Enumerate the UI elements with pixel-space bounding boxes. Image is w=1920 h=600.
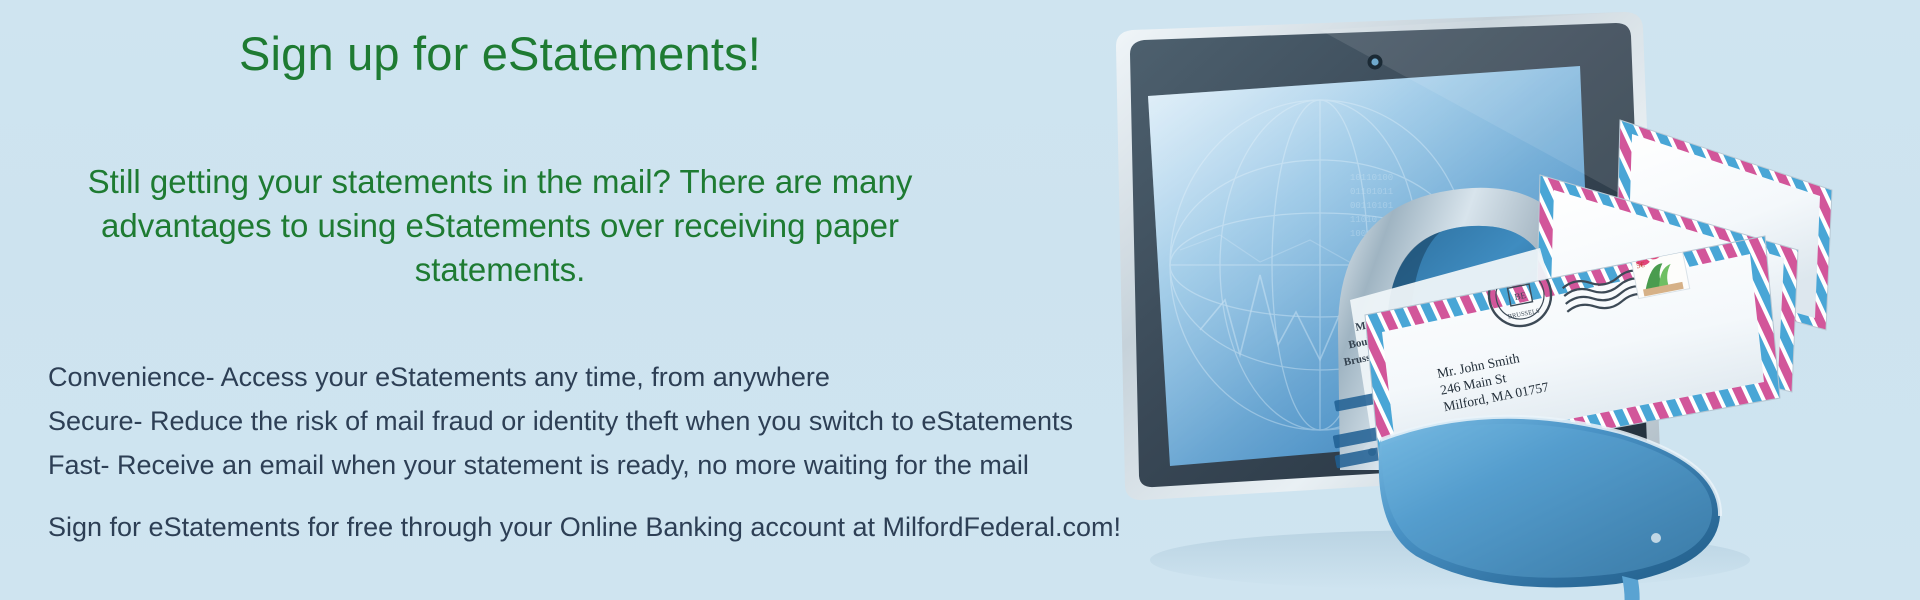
- tablet-screen-graphic: 10110100 01101011 00110101 11010 1001 01…: [1170, 100, 1470, 430]
- svg-text:04: 04: [1720, 309, 1732, 321]
- mailbox: [1338, 188, 1586, 470]
- svg-text:Boulevard Louis Schmidt: Boulevard Louis Schmidt: [1348, 317, 1468, 352]
- envelope-street: 246 Main St: [1439, 370, 1508, 398]
- list-item: Convenience- Access your eStatements any…: [48, 355, 1028, 399]
- envelope-front: EUROPEAN BRUSSELS BE: [1365, 236, 1780, 470]
- call-to-action-text: Sign for eStatements for free through yo…: [48, 512, 1048, 543]
- envelope-reverse-flap: Mrs Betty Smith Boulevard Louis Schmidt …: [1324, 248, 1580, 469]
- svg-text:1001: 1001: [1350, 229, 1372, 239]
- svg-text:BE: BE: [1514, 290, 1528, 302]
- svg-text:10110100: 10110100: [1350, 173, 1393, 183]
- envelope-city-state-zip: Milford, MA 01757: [1442, 379, 1550, 414]
- svg-text:01101011: 01101011: [1350, 187, 1393, 197]
- illustration-shadow: [1150, 530, 1750, 590]
- tablet-camera-icon: [1368, 55, 1383, 70]
- mailbox-door: [1379, 417, 1720, 600]
- promo-subheading: Still getting your statements in the mai…: [20, 160, 980, 292]
- tablet-mailbox-illustration: 10110100 01101011 00110101 11010 1001 01…: [1020, 0, 1920, 600]
- estatements-promo-banner: Sign up for eStatements! Still getting y…: [0, 0, 1920, 600]
- envelope-recipient-name: Mr. John Smith: [1436, 350, 1521, 381]
- svg-text:11010: 11010: [1350, 215, 1377, 225]
- svg-text:EUROPEAN: EUROPEAN: [1499, 272, 1535, 286]
- svg-text:0101011010: 0101011010: [1342, 293, 1396, 303]
- promo-text-column: Sign up for eStatements! Still getting y…: [0, 0, 1030, 600]
- svg-text:00110101: 00110101: [1350, 201, 1393, 211]
- envelope-back-2: 04: [1536, 175, 1798, 392]
- svg-text:Brussel 1060 Belgium: Brussel 1060 Belgium: [1343, 337, 1445, 368]
- list-item: Secure- Reduce the risk of mail fraud or…: [48, 399, 1028, 443]
- benefits-list: Convenience- Access your eStatements any…: [48, 355, 1028, 487]
- list-item: Fast- Receive an email when your stateme…: [48, 443, 1028, 487]
- svg-text:BRUSSELS: BRUSSELS: [1507, 308, 1540, 321]
- svg-text:Mrs Betty Smith: Mrs Betty Smith: [1354, 307, 1433, 334]
- svg-text:5€: 5€: [1636, 260, 1646, 270]
- tablet-device: 10110100 01101011 00110101 11010 1001 01…: [1116, 12, 1660, 500]
- envelope-back-3: [1616, 120, 1832, 330]
- postage-stamp-icon: 5€: [1630, 245, 1689, 298]
- postmark-stamp-icon: EUROPEAN BRUSSELS BE: [1484, 259, 1557, 332]
- page-title: Sign up for eStatements!: [0, 26, 1000, 81]
- envelope-stack: 04 Mrs Betty Smith Boulevard Louis Schmi…: [1324, 120, 1832, 470]
- cancellation-waves-icon: [1562, 268, 1651, 315]
